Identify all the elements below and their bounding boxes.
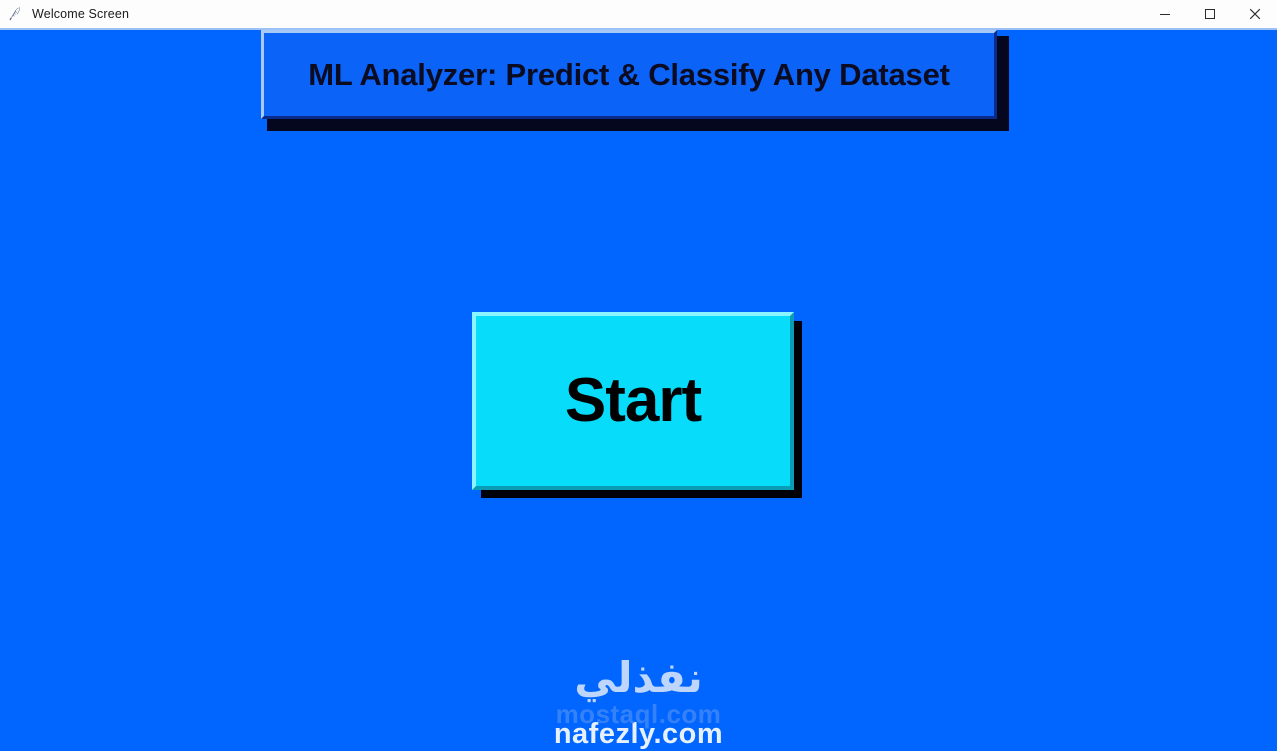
python-feather-icon — [7, 6, 23, 22]
main-content-area: ML Analyzer: Predict & Classify Any Data… — [0, 30, 1277, 751]
minimize-button[interactable] — [1142, 0, 1187, 28]
maximize-button[interactable] — [1187, 0, 1232, 28]
watermark-arabic-logo: نفذلي — [574, 657, 703, 699]
watermark-overlay: نفذلي mostaql.com nafezly.com — [0, 655, 1277, 751]
page-title: ML Analyzer: Predict & Classify Any Data… — [308, 57, 949, 93]
window-title-bar[interactable]: Welcome Screen — [0, 0, 1277, 28]
close-icon — [1249, 8, 1261, 20]
start-button-label: Start — [565, 370, 701, 432]
close-button[interactable] — [1232, 0, 1277, 28]
window-controls-group — [1142, 0, 1277, 28]
application-window: Welcome Screen — [0, 0, 1277, 751]
start-button[interactable]: Start — [472, 312, 794, 490]
watermark-mostaql-text: mostaql.com — [556, 701, 722, 727]
heading-banner: ML Analyzer: Predict & Classify Any Data… — [261, 30, 997, 119]
window-title-text: Welcome Screen — [32, 7, 129, 21]
maximize-icon — [1204, 8, 1216, 20]
watermark-nafezly-text: nafezly.com — [554, 720, 723, 749]
minimize-icon — [1159, 8, 1171, 20]
start-button-container: Start — [472, 312, 802, 498]
heading-banner-container: ML Analyzer: Predict & Classify Any Data… — [261, 30, 1009, 131]
